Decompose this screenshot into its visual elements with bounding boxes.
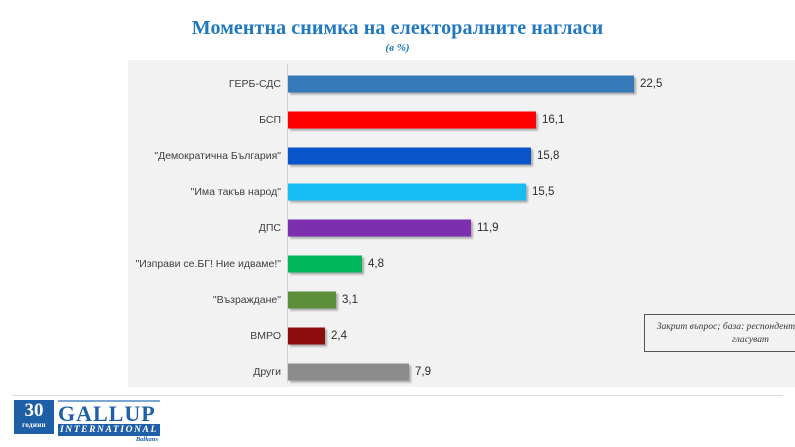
bar-category-label: "Има такъв народ": [191, 186, 281, 198]
logo-region-text: Balkans: [58, 436, 160, 444]
bar[interactable]: [288, 256, 362, 273]
footer-divider: [12, 395, 783, 396]
bar-value-label: 15,8: [537, 150, 559, 162]
logo-main-text: GALLUP: [58, 400, 160, 424]
bar-category-label: "Изправи се.БГ! Ние идваме!": [136, 258, 281, 270]
bar[interactable]: [288, 76, 634, 93]
logo-anniversary-badge: 30 години: [14, 400, 54, 434]
bar-category-label: Други: [253, 366, 281, 378]
bar-row: ГЕРБ-СДС22,5: [128, 66, 795, 102]
bar-value-label: 11,9: [477, 222, 499, 234]
bar-row: "Изправи се.БГ! Ние идваме!"4,8: [128, 246, 795, 282]
annotation-text: Закрит въпрос; база: респонденти, които …: [645, 320, 795, 346]
chart-subtitle: (в %): [0, 41, 795, 55]
bar-value-label: 16,1: [542, 114, 564, 126]
bar[interactable]: [288, 184, 526, 201]
annotation-textbox: Закрит въпрос; база: респонденти, които …: [644, 314, 795, 352]
bar-category-label: БСП: [259, 114, 281, 126]
bar-row: Други7,9: [128, 354, 795, 390]
bar-category-label: ГЕРБ-СДС: [229, 78, 281, 90]
logo-badge-word: години: [22, 421, 46, 430]
bar-row: БСП16,1: [128, 102, 795, 138]
bar-value-label: 15,5: [532, 186, 554, 198]
logo-badge-number: 30: [25, 401, 44, 421]
bar-row: ДПС11,9: [128, 210, 795, 246]
chart-title-block: Моментна снимка на електоралните нагласи…: [0, 16, 795, 55]
logo-wordmark: GALLUP INTERNATIONAL Balkans: [58, 400, 160, 444]
bar[interactable]: [288, 292, 336, 309]
page-title: Моментна снимка на електоралните нагласи: [0, 16, 795, 40]
bar-category-label: ДПС: [259, 222, 281, 234]
bar-value-label: 2,4: [331, 330, 347, 342]
bar-category-label: ВМРО: [250, 330, 281, 342]
bar[interactable]: [288, 364, 409, 381]
bar-value-label: 3,1: [342, 294, 358, 306]
bar-category-label: "Демократична България": [154, 150, 281, 162]
gallup-logo: 30 години GALLUP INTERNATIONAL Balkans: [14, 400, 160, 438]
bar[interactable]: [288, 148, 531, 165]
bar-value-label: 7,9: [415, 366, 431, 378]
bar-row: "Възраждане"3,1: [128, 282, 795, 318]
bar-row: "Има такъв народ"15,5: [128, 174, 795, 210]
bar-value-label: 22,5: [640, 78, 662, 90]
bar[interactable]: [288, 220, 471, 237]
bar-value-label: 4,8: [368, 258, 384, 270]
bar[interactable]: [288, 328, 325, 345]
bar-row: "Демократична България"15,8: [128, 138, 795, 174]
logo-sub-text: INTERNATIONAL: [58, 424, 160, 436]
chart-plot-area: ГЕРБ-СДС22,5БСП16,1"Демократична Българи…: [128, 60, 795, 387]
bar[interactable]: [288, 112, 536, 129]
bar-category-label: "Възраждане": [213, 294, 281, 306]
